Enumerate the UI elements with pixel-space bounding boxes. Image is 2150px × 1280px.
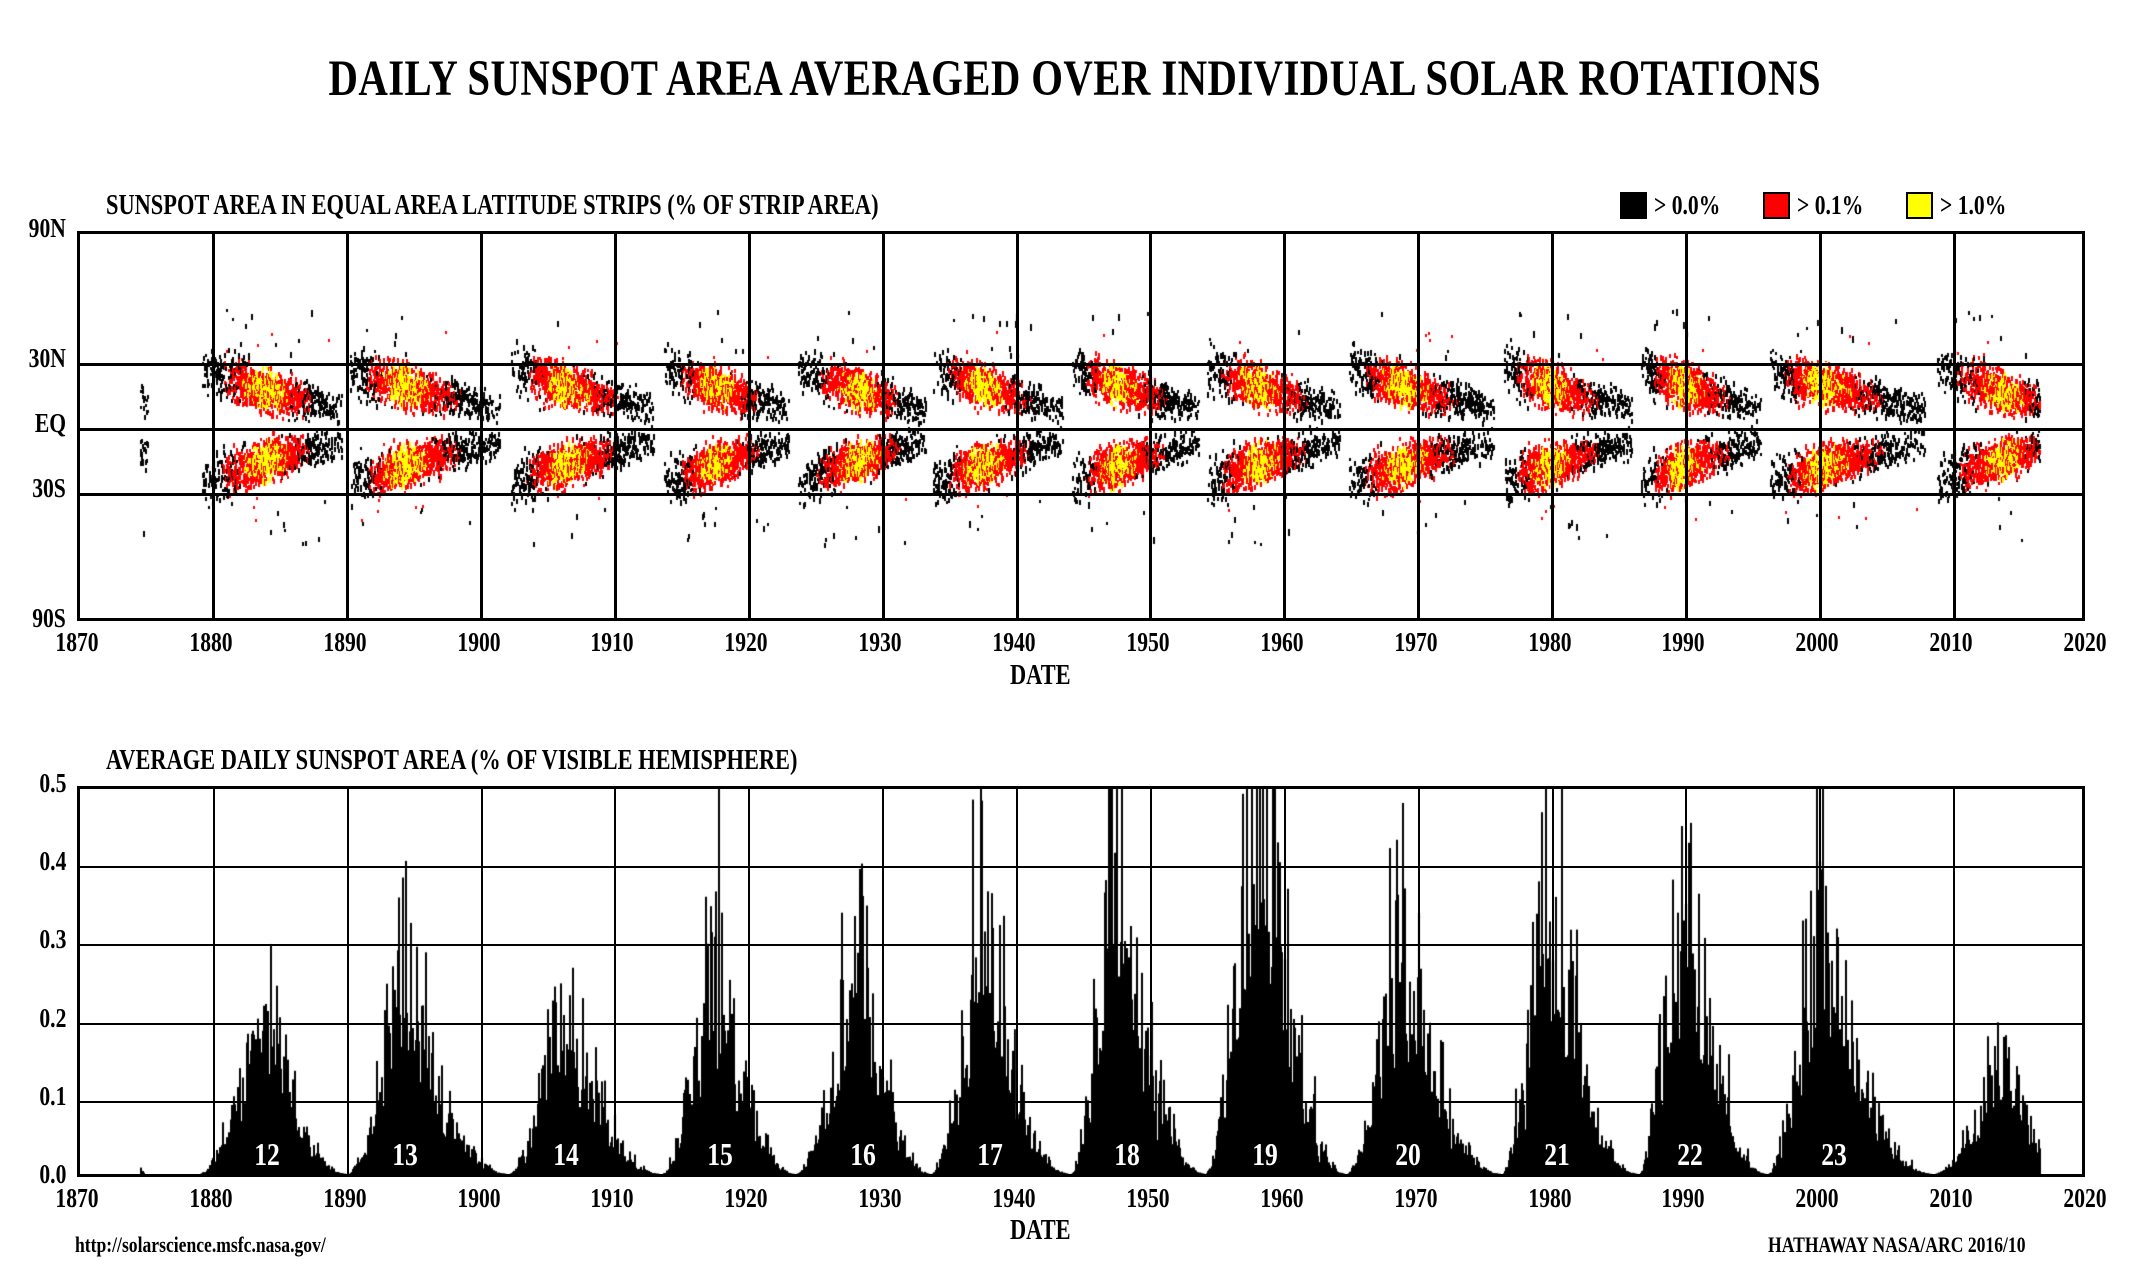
gridline-vertical	[212, 234, 215, 618]
gridline-vertical	[748, 789, 750, 1174]
gridline-vertical	[1016, 789, 1018, 1174]
gridline-vertical	[1016, 234, 1019, 618]
solar-cycle-number: 12	[237, 1136, 297, 1173]
credit-text: HATHAWAY NASA/ARC 2016/10	[1768, 1232, 2090, 1258]
legend-swatch-yellow	[1906, 192, 1933, 219]
x-axis-tick: 1880	[151, 627, 271, 658]
gridline-horizontal	[80, 1101, 2082, 1103]
gridline-horizontal	[80, 1023, 2082, 1025]
solar-cycle-number: 17	[960, 1136, 1020, 1173]
gridline-vertical	[748, 234, 751, 618]
gridline-vertical	[882, 234, 885, 618]
legend-swatch-red	[1763, 192, 1790, 219]
gridline-vertical	[1149, 234, 1152, 618]
y-axis-tick: EQ	[0, 408, 70, 439]
gridline-vertical	[1150, 789, 1152, 1174]
x-axis-tick: 1940	[954, 627, 1074, 658]
x-axis-tick: 1970	[1356, 627, 1476, 658]
x-axis-tick: 1970	[1356, 1183, 1476, 1214]
x-axis-tick: 1890	[285, 1183, 405, 1214]
x-axis-tick: 1980	[1490, 1183, 1610, 1214]
series-x-axis-label: DATE	[1010, 1215, 1086, 1247]
butterfly-x-axis-label: DATE	[1010, 660, 1086, 692]
gridline-horizontal	[80, 493, 2082, 496]
gridline-vertical	[347, 789, 349, 1174]
x-axis-tick: 1940	[954, 1183, 1074, 1214]
gridline-vertical	[1418, 789, 1420, 1174]
solar-cycle-number: 13	[375, 1136, 435, 1173]
solar-cycle-number: 19	[1235, 1136, 1295, 1173]
gridline-vertical	[1284, 789, 1286, 1174]
series-panel-title: AVERAGE DAILY SUNSPOT AREA (% OF VISIBLE…	[106, 745, 970, 777]
y-axis-tick: 30S	[0, 473, 70, 504]
legend: > 0.0% > 0.1% > 1.0%	[1620, 190, 2039, 221]
x-axis-tick: 1910	[552, 1183, 672, 1214]
gridline-vertical	[1819, 234, 1822, 618]
x-axis-tick: 1990	[1623, 1183, 1743, 1214]
x-axis-tick: 1870	[17, 1183, 137, 1214]
gridline-vertical	[480, 234, 483, 618]
y-axis-tick: 0.3	[0, 924, 70, 955]
x-axis-tick: 2010	[1891, 627, 2011, 658]
gridline-vertical	[1283, 234, 1286, 618]
x-axis-tick: 1910	[552, 627, 672, 658]
gridline-horizontal	[80, 363, 2082, 366]
legend-item: > 0.1%	[1763, 190, 1880, 221]
y-axis-tick: 30N	[0, 343, 70, 374]
y-axis-tick: 0.2	[0, 1003, 70, 1034]
y-axis-tick: 0.1	[0, 1081, 70, 1112]
legend-label: > 0.0%	[1654, 190, 1720, 221]
x-axis-tick: 1900	[419, 627, 539, 658]
x-axis-tick: 1990	[1623, 627, 1743, 658]
x-axis-tick: 1960	[1222, 627, 1342, 658]
legend-label: > 1.0%	[1940, 190, 2006, 221]
solar-cycle-number: 21	[1527, 1136, 1587, 1173]
y-axis-tick: 0.5	[0, 768, 70, 799]
legend-item: > 1.0%	[1906, 190, 2023, 221]
butterfly-panel-title: SUNSPOT AREA IN EQUAL AREA LATITUDE STRI…	[106, 190, 1072, 222]
solar-cycle-number: 15	[690, 1136, 750, 1173]
gridline-vertical	[1417, 234, 1420, 618]
solar-cycle-number: 14	[536, 1136, 596, 1173]
gridline-horizontal	[80, 428, 2082, 431]
x-axis-tick: 1980	[1490, 627, 1610, 658]
butterfly-canvas	[80, 234, 2082, 618]
x-axis-tick: 1960	[1222, 1183, 1342, 1214]
x-axis-tick: 1950	[1088, 1183, 1208, 1214]
gridline-vertical	[614, 789, 616, 1174]
x-axis-tick: 1890	[285, 627, 405, 658]
legend-swatch-black	[1620, 192, 1647, 219]
gridline-vertical	[614, 234, 617, 618]
series-canvas	[80, 789, 2082, 1174]
gridline-vertical	[346, 234, 349, 618]
solar-cycle-number: 20	[1378, 1136, 1438, 1173]
gridline-vertical	[1685, 234, 1688, 618]
y-axis-tick: 90N	[0, 213, 70, 244]
solar-cycle-number: 18	[1097, 1136, 1157, 1173]
gridline-vertical	[481, 789, 483, 1174]
average-area-plot: 121314151617181920212223	[77, 786, 2085, 1177]
gridline-vertical	[1953, 789, 1955, 1174]
x-axis-tick: 2000	[1757, 1183, 1877, 1214]
x-axis-tick: 2010	[1891, 1183, 2011, 1214]
gridline-horizontal	[80, 866, 2082, 868]
x-axis-tick: 1870	[17, 627, 137, 658]
gridline-vertical	[1953, 234, 1956, 618]
solar-cycle-number: 16	[833, 1136, 893, 1173]
x-axis-tick: 2020	[2025, 627, 2145, 658]
x-axis-tick: 2020	[2025, 1183, 2145, 1214]
gridline-vertical	[882, 789, 884, 1174]
x-axis-tick: 1930	[820, 1183, 940, 1214]
page-title: DAILY SUNSPOT AREA AVERAGED OVER INDIVID…	[0, 50, 2150, 108]
gridline-vertical	[1685, 789, 1687, 1174]
gridline-vertical	[1552, 789, 1554, 1174]
butterfly-diagram-plot	[77, 231, 2085, 621]
x-axis-tick: 1920	[686, 1183, 806, 1214]
x-axis-tick: 1950	[1088, 627, 1208, 658]
source-url[interactable]: http://solarscience.msfc.nasa.gov/	[75, 1232, 388, 1258]
x-axis-tick: 2000	[1757, 627, 1877, 658]
gridline-vertical	[1819, 789, 1821, 1174]
gridline-vertical	[1551, 234, 1554, 618]
x-axis-tick: 1880	[151, 1183, 271, 1214]
solar-cycle-number: 23	[1804, 1136, 1864, 1173]
gridline-vertical	[213, 789, 215, 1174]
gridline-horizontal	[80, 944, 2082, 946]
solar-cycle-number: 22	[1660, 1136, 1720, 1173]
legend-item: > 0.0%	[1620, 190, 1737, 221]
x-axis-tick: 1920	[686, 627, 806, 658]
x-axis-tick: 1930	[820, 627, 940, 658]
legend-label: > 0.1%	[1797, 190, 1863, 221]
y-axis-tick: 0.4	[0, 846, 70, 877]
x-axis-tick: 1900	[419, 1183, 539, 1214]
